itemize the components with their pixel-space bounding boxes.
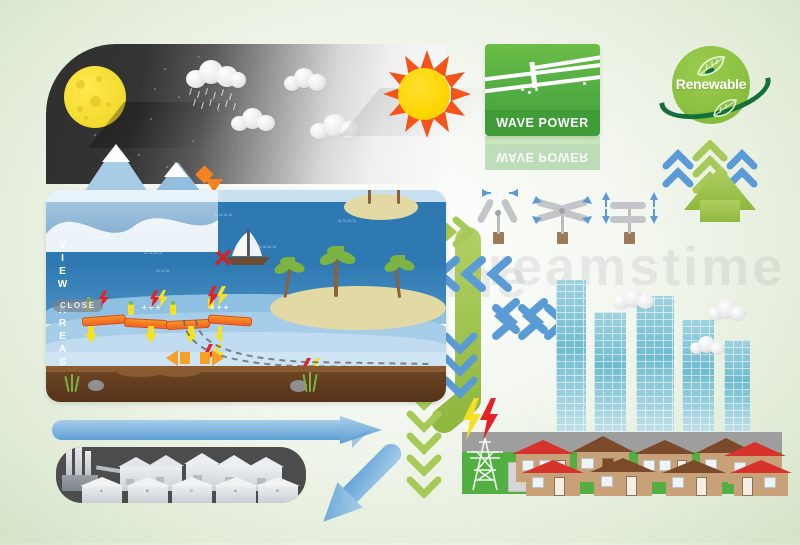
ocean-wave-farm-panel[interactable]: ≈≈≈≈ ≈≈≈≈ ≈≈≈≈ ≈≈≈≈ ≈≈≈≈ ≈≈≈ ✕ +	[46, 190, 446, 402]
rain-cloud-icon	[186, 60, 246, 88]
wind-arrow-icon	[530, 190, 596, 230]
wind-turbine-row	[470, 186, 670, 244]
factory-shed: B	[256, 477, 300, 503]
wind-arrow-icon	[598, 188, 662, 232]
factory-shed: B	[126, 477, 170, 503]
factory-shed: C	[170, 477, 214, 503]
industrial-zone: A B C A B	[56, 447, 306, 503]
tower	[636, 296, 674, 432]
glass-wave-overlay	[46, 190, 218, 252]
cloud-icon	[613, 288, 657, 310]
factory-shed: A	[80, 477, 124, 503]
wind-arrow-icon	[480, 186, 522, 200]
house	[590, 458, 656, 496]
direction-arrows-icon	[164, 348, 234, 368]
rock-icon	[88, 380, 104, 391]
house-row	[512, 440, 782, 496]
blue-flow-arrow-diagonal	[300, 420, 430, 540]
lightning-bolt-icon	[150, 290, 168, 308]
buoy-icon	[170, 304, 176, 315]
cloud-icon	[284, 68, 328, 92]
buoy-icon	[128, 304, 134, 315]
close-button[interactable]: CLOSE	[53, 299, 103, 312]
wave-power-logo[interactable]: WAVE POWER	[485, 44, 600, 136]
tower	[594, 312, 626, 432]
cloud-icon	[708, 300, 748, 321]
turbine-y-shape	[474, 186, 524, 244]
house	[522, 460, 584, 496]
renewable-badge[interactable]: Renewable	[658, 42, 762, 134]
sun-icon	[378, 48, 470, 140]
lightning-bolt-icon	[208, 286, 228, 306]
renewable-label: Renewable	[672, 76, 750, 92]
tower	[556, 280, 586, 432]
turbine-x-shape	[532, 186, 594, 244]
infographic-canvas: dreamstime dreamstime	[0, 0, 800, 543]
transmission-tower-icon	[466, 436, 504, 492]
leaf-icon	[712, 98, 738, 118]
house	[662, 460, 726, 496]
wave-energy-converter[interactable]	[82, 314, 127, 326]
house	[730, 460, 792, 496]
factory-shed: A	[214, 477, 258, 503]
lightning-bolt-icon	[460, 398, 504, 440]
island	[344, 194, 418, 220]
turbine-h-shape	[602, 186, 658, 244]
tower	[724, 340, 750, 432]
leaf-icon	[696, 54, 726, 78]
cloud-icon	[231, 108, 277, 132]
wave-power-label: WAVE POWER	[496, 116, 589, 130]
cloud-icon	[690, 336, 726, 355]
